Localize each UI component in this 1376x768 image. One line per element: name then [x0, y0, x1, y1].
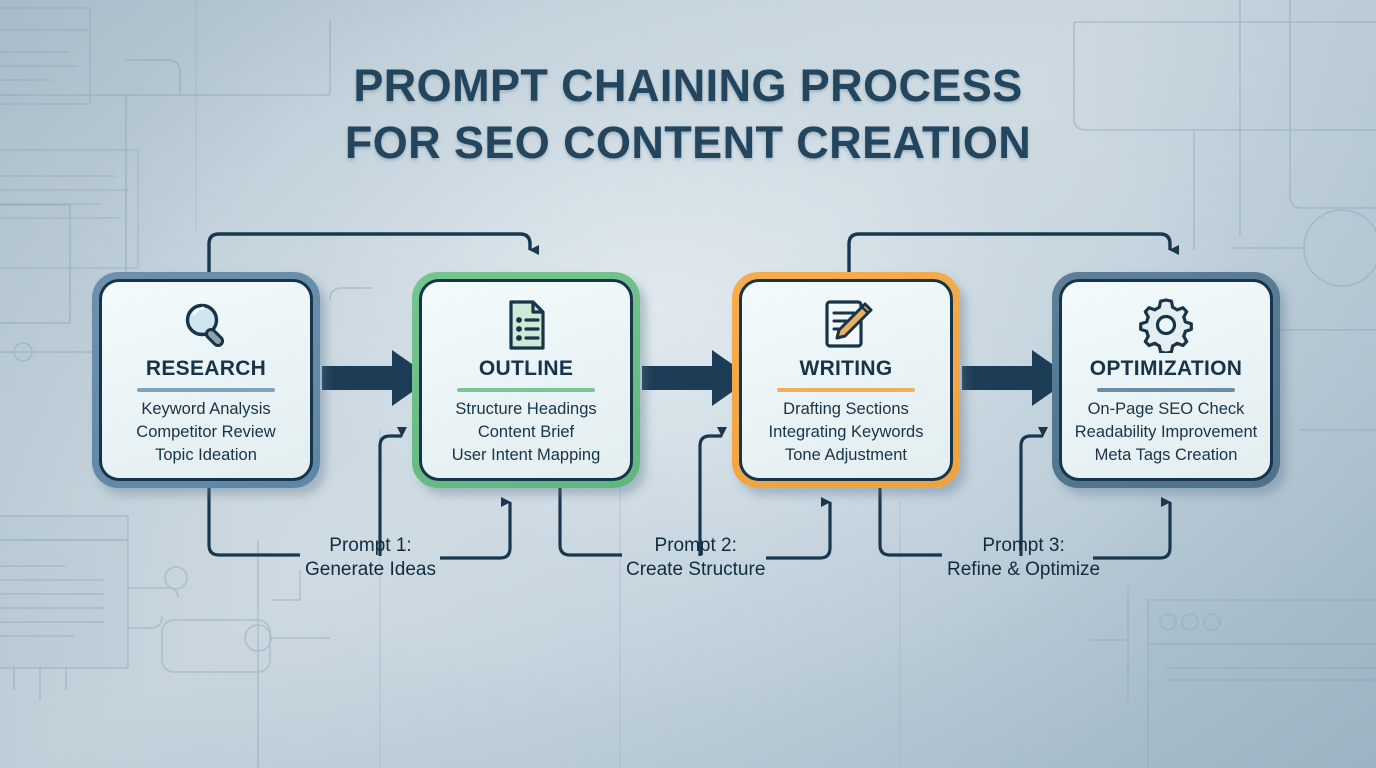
prompt-3-to-optimization [1093, 502, 1170, 558]
stage-items: Drafting Sections Integrating Keywords T… [768, 398, 923, 466]
title-line-2: FOR SEO CONTENT CREATION [0, 115, 1376, 172]
stage-items: Keyword Analysis Competitor Review Topic… [136, 398, 275, 466]
top-connector-3-to-4 [849, 234, 1170, 272]
prompt-label-title: Prompt 2: [626, 534, 765, 558]
stage-item: User Intent Mapping [452, 444, 601, 467]
prompt-label-title: Prompt 3: [947, 534, 1100, 558]
stage-title: WRITING [799, 357, 892, 381]
page-title: PROMPT CHAINING PROCESS FOR SEO CONTENT … [0, 58, 1376, 171]
stage-card-outline[interactable]: OUTLINE Structure Headings Content Brief… [412, 272, 640, 488]
stage-item: Content Brief [452, 421, 601, 444]
prompt-label-desc: Generate Ideas [305, 558, 436, 582]
prompt-2-to-writing [766, 502, 830, 558]
stage-item: Competitor Review [136, 421, 275, 444]
bottom-out-1 [209, 488, 300, 555]
bottom-out-2 [560, 488, 622, 555]
document-pencil-icon [817, 294, 875, 356]
stage-item: Structure Headings [452, 398, 601, 421]
stage-item: Meta Tags Creation [1075, 444, 1258, 467]
gear-icon [1138, 294, 1194, 356]
stage-title: OPTIMIZATION [1090, 357, 1243, 381]
prompt-label-1: Prompt 1: Generate Ideas [305, 534, 436, 581]
title-line-1: PROMPT CHAINING PROCESS [0, 58, 1376, 115]
stage-item: Readability Improvement [1075, 421, 1258, 444]
stage-item: Drafting Sections [768, 398, 923, 421]
prompt-label-desc: Refine & Optimize [947, 558, 1100, 582]
stage-card-optimization[interactable]: OPTIMIZATION On-Page SEO Check Readabili… [1052, 272, 1280, 488]
stage-rule [777, 388, 915, 392]
stage-items: Structure Headings Content Brief User In… [452, 398, 601, 466]
stage-card-writing[interactable]: WRITING Drafting Sections Integrating Ke… [732, 272, 960, 488]
magnifier-icon [178, 294, 234, 356]
top-connector-1-to-2 [209, 234, 530, 272]
prompt-1-to-outline [440, 502, 510, 558]
stage-item: On-Page SEO Check [1075, 398, 1258, 421]
prompt-label-title: Prompt 1: [305, 534, 436, 558]
stage-card-research[interactable]: RESEARCH Keyword Analysis Competitor Rev… [92, 272, 320, 488]
stage-title: RESEARCH [146, 357, 266, 381]
stage-item: Tone Adjustment [768, 444, 923, 467]
stage-item: Integrating Keywords [768, 421, 923, 444]
stage-title: OUTLINE [479, 357, 573, 381]
bottom-out-3 [880, 488, 942, 555]
prompt-label-desc: Create Structure [626, 558, 765, 582]
stage-items: On-Page SEO Check Readability Improvemen… [1075, 398, 1258, 466]
stage-rule [1097, 388, 1235, 392]
stage-rule [457, 388, 595, 392]
stage-item: Keyword Analysis [136, 398, 275, 421]
prompt-label-2: Prompt 2: Create Structure [626, 534, 765, 581]
prompt-label-3: Prompt 3: Refine & Optimize [947, 534, 1100, 581]
stage-item: Topic Ideation [136, 444, 275, 467]
document-list-icon [498, 294, 554, 356]
stage-rule [137, 388, 275, 392]
